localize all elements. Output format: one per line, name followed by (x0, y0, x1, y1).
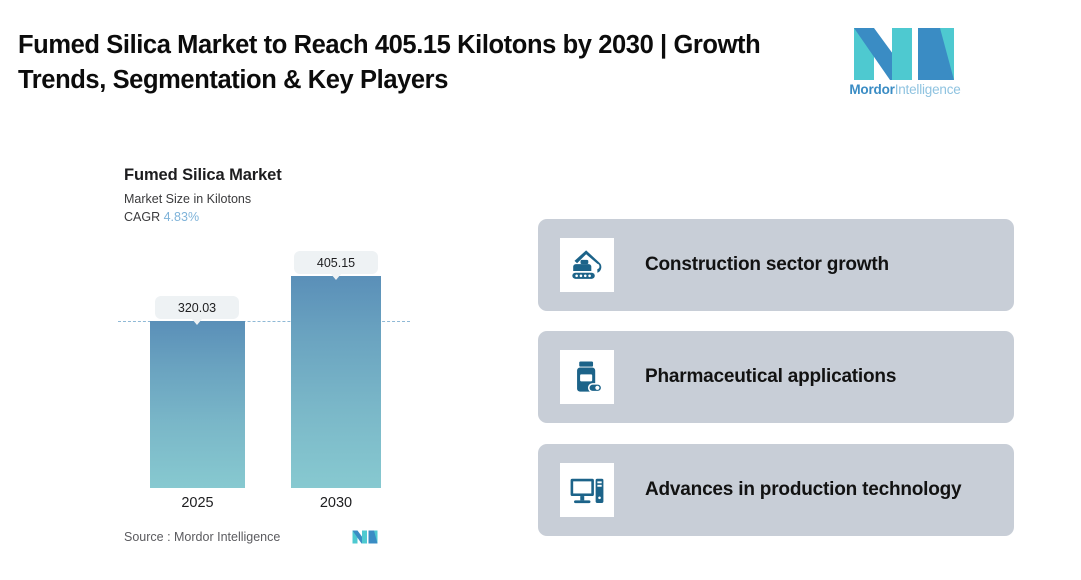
list-item[interactable]: Construction sector growth (538, 219, 1014, 311)
mordor-intelligence-logo: MordorIntelligence (846, 28, 964, 100)
infographic-page: Fumed Silica Market to Reach 405.15 Kilo… (0, 0, 1081, 580)
x-axis-label-2030: 2030 (291, 495, 381, 511)
source-logo-mark-icon (352, 528, 378, 546)
header: Fumed Silica Market to Reach 405.15 Kilo… (0, 0, 1081, 130)
list-item[interactable]: Advances in production technology (538, 444, 1014, 536)
desktop-computer-icon (560, 463, 614, 517)
logo-wordmark-light: Intelligence (895, 82, 961, 97)
chart-panel: Fumed Silica Market Market Size in Kilot… (0, 150, 470, 560)
page-title: Fumed Silica Market to Reach 405.15 Kilo… (18, 28, 818, 98)
excavator-icon (560, 238, 614, 292)
list-item-label: Advances in production technology (645, 476, 961, 505)
x-axis-label-2025: 2025 (150, 495, 245, 511)
bar-2025 (150, 321, 245, 488)
list-item-label: Construction sector growth (645, 251, 889, 280)
bar-chart-plot: 320.03 405.15 2025 2030 (0, 150, 470, 560)
logo-mark-icon (852, 28, 956, 80)
list-item[interactable]: Pharmaceutical applications (538, 331, 1014, 423)
source-text: Source : Mordor Intelligence (124, 530, 280, 544)
list-item-label: Pharmaceutical applications (645, 363, 896, 392)
logo-wordmark-bold: Mordor (849, 82, 894, 97)
bar-2030 (291, 276, 381, 488)
logo-wordmark: MordorIntelligence (846, 82, 964, 97)
bar-value-label-2030: 405.15 (294, 251, 378, 274)
pill-bottle-icon (560, 350, 614, 404)
drivers-card-list: Construction sector growth Pharmaceutica… (538, 219, 1014, 546)
bar-value-label-2025: 320.03 (155, 296, 239, 319)
